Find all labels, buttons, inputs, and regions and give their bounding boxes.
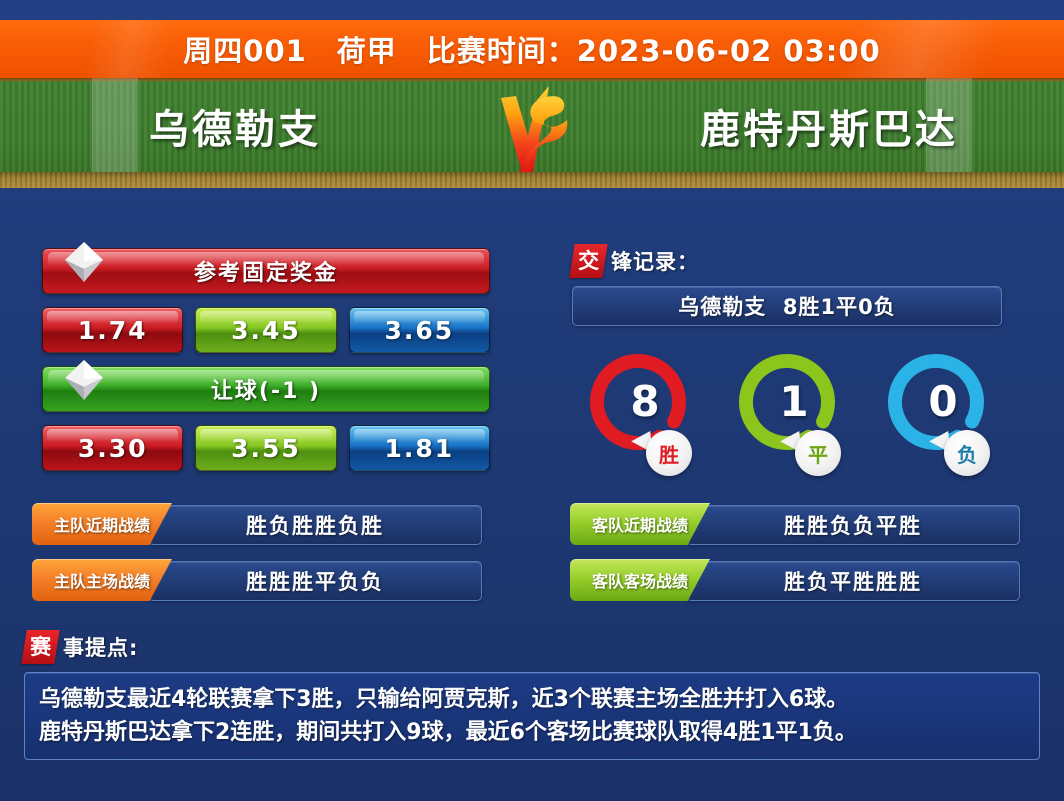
odds-panel: 参考固定奖金 1.74 3.45 3.65: [42, 248, 490, 484]
stat-ring-lose-label: 负: [944, 430, 990, 476]
head-to-head-rings: 8 胜 1 平 0 负: [572, 348, 1002, 488]
stat-ring-lose: 0 负: [876, 348, 996, 478]
handicap-prefix: 让球(: [211, 379, 271, 404]
odds-button-handicap-draw[interactable]: 3.55: [195, 425, 336, 471]
handicap-header-label: 让球(-1 ): [211, 373, 321, 405]
head-to-head-tag-char: 交: [578, 245, 599, 275]
fixed-bonus-header-label: 参考固定奖金: [194, 255, 338, 287]
odds-value: 3.65: [384, 316, 454, 345]
away-away-form-tag: 客队客场战绩: [570, 559, 710, 601]
away-form-column: 胜胜负负平胜 客队近期战绩 胜负平胜胜胜 客队客场战绩: [570, 505, 1020, 617]
match-notes-tag-char: 赛: [30, 631, 51, 661]
fixed-bonus-odds-row: 1.74 3.45 3.65: [42, 307, 490, 353]
diamond-icon: [61, 239, 107, 285]
home-home-form-tag: 主队主场战绩: [32, 559, 172, 601]
match-notes-heading: 赛 事提点:: [24, 632, 1040, 662]
odds-value: 3.55: [231, 434, 301, 463]
head-to-head-summary: 乌德勒支 8胜1平0负: [572, 286, 1002, 326]
odds-value: 3.30: [78, 434, 148, 463]
match-header-bar: 周四001 荷甲 比赛时间：2023-06-02 03:00: [0, 20, 1064, 78]
odds-button-handicap-win[interactable]: 3.30: [42, 425, 183, 471]
match-notes-section: 赛 事提点: 乌德勒支最近4轮联赛拿下3胜，只输给阿贾克斯，近3个联赛主场全胜并…: [24, 632, 1040, 760]
home-recent-form-tag: 主队近期战绩: [32, 503, 172, 545]
match-note-line: 鹿特丹斯巴达拿下2连胜，期间共打入9球，最近6个客场比赛球队取得4胜1平1负。: [39, 716, 1025, 749]
head-to-head-heading: 交 锋记录：: [572, 246, 1002, 276]
head-to-head-tag-text: 锋记录：: [611, 246, 699, 276]
match-header-title: 周四001 荷甲 比赛时间：2023-06-02 03:00: [0, 20, 1064, 78]
home-form-column: 胜负胜胜负胜 主队近期战绩 胜胜胜平负负 主队主场战绩: [32, 505, 482, 617]
odds-button-handicap-lose[interactable]: 1.81: [349, 425, 490, 471]
fixed-bonus-header: 参考固定奖金: [42, 248, 490, 294]
head-to-head-panel: 交 锋记录： 乌德勒支 8胜1平0负 8 胜 1 平: [572, 246, 1002, 488]
home-recent-form-results: 胜负胜胜负胜: [148, 505, 482, 545]
match-note-line: 乌德勒支最近4轮联赛拿下3胜，只输给阿贾克斯，近3个联赛主场全胜并打入6球。: [39, 683, 1025, 716]
odds-button-fixed-lose[interactable]: 3.65: [349, 307, 490, 353]
odds-button-fixed-win[interactable]: 1.74: [42, 307, 183, 353]
stat-ring-win: 8 胜: [578, 348, 698, 478]
handicap-header: 让球(-1 ): [42, 366, 490, 412]
stat-ring-draw: 1 平: [727, 348, 847, 478]
odds-button-fixed-draw[interactable]: 3.45: [195, 307, 336, 353]
match-preview-screen: 周四001 荷甲 比赛时间：2023-06-02 03:00 乌德勒支 鹿特丹斯…: [0, 0, 1064, 801]
home-team-name: 乌德勒支: [0, 78, 470, 174]
odds-value: 1.74: [78, 316, 148, 345]
match-notes-box: 乌德勒支最近4轮联赛拿下3胜，只输给阿贾克斯，近3个联赛主场全胜并打入6球。 鹿…: [24, 672, 1040, 760]
away-team-name: 鹿特丹斯巴达: [594, 78, 1064, 174]
pitch-banner: 乌德勒支 鹿特丹斯巴达: [0, 78, 1064, 188]
home-recent-form-row: 胜负胜胜负胜 主队近期战绩: [32, 505, 482, 543]
away-away-form-row: 胜负平胜胜胜 客队客场战绩: [570, 561, 1020, 599]
handicap-value: -1: [271, 379, 299, 404]
away-away-form-results: 胜负平胜胜胜: [686, 561, 1020, 601]
odds-value: 3.45: [231, 316, 301, 345]
away-recent-form-tag: 客队近期战绩: [570, 503, 710, 545]
pitch-dirt-strip: [0, 172, 1064, 188]
handicap-odds-row: 3.30 3.55 1.81: [42, 425, 490, 471]
home-home-form-results: 胜胜胜平负负: [148, 561, 482, 601]
away-recent-form-row: 胜胜负负平胜 客队近期战绩: [570, 505, 1020, 543]
odds-value: 1.81: [384, 434, 454, 463]
head-to-head-tag-badge: 交: [569, 244, 607, 278]
away-recent-form-results: 胜胜负负平胜: [686, 505, 1020, 545]
match-notes-tag-badge: 赛: [21, 630, 59, 664]
diamond-icon: [61, 357, 107, 403]
match-notes-tag-text: 事提点:: [63, 632, 138, 662]
vs-flame-icon: [487, 80, 579, 184]
stat-ring-draw-label: 平: [795, 430, 841, 476]
handicap-suffix: ): [299, 379, 321, 404]
home-home-form-row: 胜胜胜平负负 主队主场战绩: [32, 561, 482, 599]
stat-ring-win-label: 胜: [646, 430, 692, 476]
